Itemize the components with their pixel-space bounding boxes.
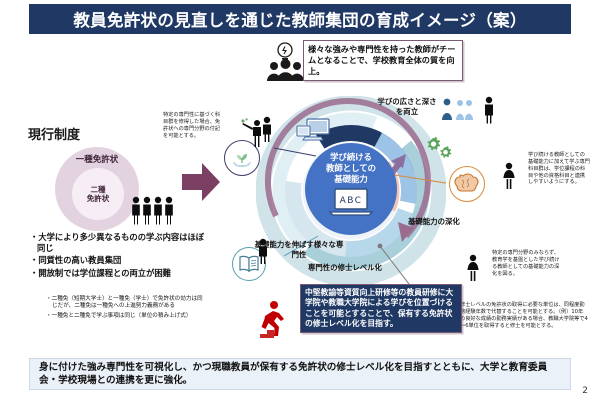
current-system-bullets: 大学により多少異なるものの学ぶ内容はほぼ同じ 同質性の高い教員集団 開放制では学… xyxy=(30,232,205,280)
note-credit-substitution: 修士レベルの免許状の取得に必要な単位は、同程度勤務経験年数で代替することを可能と… xyxy=(460,302,588,329)
ring-label-breadth-depth: 学びの広さと深さを両立 xyxy=(376,97,438,116)
list-item: 同質性の高い教員集団 xyxy=(30,255,205,266)
running-person-icon xyxy=(258,300,294,338)
current-system-heading: 現行制度 xyxy=(28,124,80,143)
note-specialty-endorsement: 特定の専門性に基づく科目群を修得した場合、免許状への専門分野の付記を可能とする。 xyxy=(163,112,225,139)
license-ring-inner: 二種 免許状 xyxy=(72,168,124,220)
slide-canvas: 教員免許状の見直しを通じた教師集団の育成イメージ（案） 現行制度 一種免許状 二… xyxy=(0,0,600,400)
core-label-line3: 基礎能力 xyxy=(334,174,368,185)
note-curriculum-linkage: 学び続ける教師としての基礎能力に加えて学ぶ専門科目群は、学位課程の科目や他の資格… xyxy=(528,152,590,186)
list-item: 一種免と二種免で学ぶ事項は同じ（単位の積み上げ式） xyxy=(46,313,208,320)
person-pictogram-female-icon xyxy=(498,162,520,190)
team-group-icon xyxy=(266,58,306,82)
people-group-icon xyxy=(130,195,178,225)
ring-label-deepening: 基礎能力の深化 xyxy=(408,216,460,227)
person-pictogram-icon xyxy=(478,96,500,124)
note-pedagogy-deepening: 特定の専門分野のみならず、教育学を基盤とした学び続ける教師としての基礎能力の深化… xyxy=(492,250,564,277)
laptop-abc-icon: ABC xyxy=(328,187,374,217)
teacher-pointer-icon xyxy=(240,118,270,148)
list-item: 大学により多少異なるものの学ぶ内容はほぼ同じ xyxy=(30,232,205,254)
slide-title: 教員免許状の見直しを通じた教師集団の育成イメージ（案） xyxy=(73,7,526,31)
slide-title-bar: 教員免許状の見直しを通じた教師集団の育成イメージ（案） xyxy=(29,4,571,34)
core-label-line1: 学び続ける xyxy=(330,152,372,163)
gears-icon xyxy=(424,136,454,164)
classroom-teaching-icon xyxy=(440,96,476,122)
callout-team-quality: 様々な強みや専門性を持った教師がチームとなることで、学校教育全体の質を向上。 xyxy=(303,40,463,81)
core-label-line2: 教師としての xyxy=(326,163,376,174)
core-capability-circle: 学び続ける 教師としての 基礎能力 ABC xyxy=(305,143,397,235)
transition-arrow-icon xyxy=(180,160,222,204)
license-ring-inner-label: 二種 免許状 xyxy=(87,185,110,204)
person-pictogram-female-icon xyxy=(462,254,484,282)
page-number: 2 xyxy=(582,386,588,396)
devices-icon xyxy=(296,118,330,144)
list-item: 二種免（短期大学士）と一種免（学士）で免許状の効力は同じだが、二種免は一種免への… xyxy=(46,296,208,311)
people-pictogram-icon xyxy=(130,195,178,225)
license-ring-outer-label: 一種免許状 xyxy=(76,153,119,165)
summary-bar: 身に付けた強み専門性を可視化し、かつ現職教員が保有する免許状の修士レベル化を目指… xyxy=(29,358,571,390)
person-pictogram-icon xyxy=(252,238,274,264)
list-item: 開放制では学位課程との両立が困難 xyxy=(30,268,205,279)
brain-icon xyxy=(449,166,485,202)
ring-label-master-level: 専門性の修士レベル化 xyxy=(308,262,382,273)
summary-text: 身に付けた強み専門性を可視化し、かつ現職教員が保有する免許状の修士レベル化を目指… xyxy=(39,361,561,388)
callout-master-level-training: 中堅教諭等資質向上研修等の教員研修に大学院や教職大学院による学びを位置づけること… xyxy=(300,284,462,333)
svg-text:ABC: ABC xyxy=(340,196,363,206)
current-system-fineprint: 二種免（短期大学士）と一種免（学士）で免許状の効力は同じだが、二種免は一種免への… xyxy=(46,296,208,322)
